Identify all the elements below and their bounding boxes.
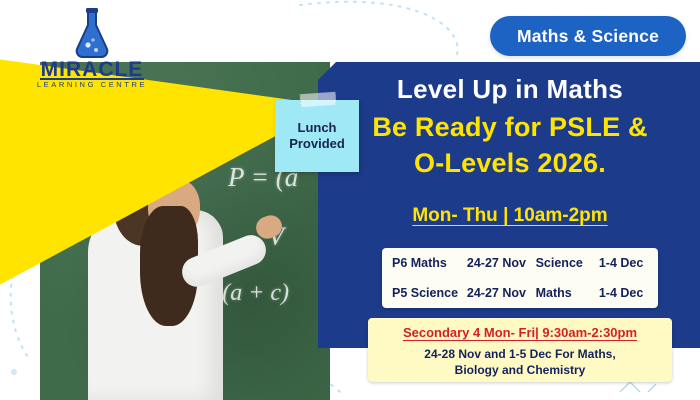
session-time: Mon- Thu | 10am-2pm [330,205,690,227]
main-heading-line1: Be Ready for PSLE & [372,112,647,142]
secondary-info-box: Secondary 4 Mon- Fri| 9:30am-2:30pm 24-2… [368,318,672,382]
lunch-note-text: Lunch Provided [289,120,345,153]
main-heading-line2: O-Levels 2026. [330,146,690,182]
cell-subject-left: P5 Science [382,278,465,308]
promo-poster: w = S : t P = (a t = S : n V = (a + c) [0,0,700,400]
brand-logo: MIRACLE LEARNING CENTRE [22,8,162,100]
secondary-detail: 24-28 Nov and 1-5 Dec For Maths, Biology… [368,346,672,378]
schedule-box: P6 Maths 24-27 Nov Science 1-4 Dec P5 Sc… [382,248,658,308]
lunch-sticky-note: Lunch Provided [275,100,359,172]
secondary-detail-line1: 24-28 Nov and 1-5 Dec For Maths, [424,347,615,361]
table-row: P6 Maths 24-27 Nov Science 1-4 Dec [382,248,658,278]
kicker-heading: Level Up in Maths [330,74,690,105]
main-heading: Be Ready for PSLE & O-Levels 2026. [330,110,690,181]
flask-icon [70,8,114,58]
cell-subject-left: P6 Maths [382,248,465,278]
lunch-note-line1: Lunch [298,120,337,135]
cell-dates-left: 24-27 Nov [465,278,534,308]
secondary-heading: Secondary 4 Mon- Fri| 9:30am-2:30pm [368,325,672,340]
secondary-detail-line2: Biology and Chemistry [455,363,586,377]
brand-tagline: LEARNING CENTRE [22,80,162,89]
cell-subject-right: Science [534,248,597,278]
lunch-note-line2: Provided [289,136,345,151]
cell-dates-left: 24-27 Nov [465,248,534,278]
subject-badge-label: Maths & Science [517,26,659,47]
sticky-tape [300,92,337,107]
cell-dates-right: 1-4 Dec [597,278,658,308]
subject-badge: Maths & Science [490,16,686,56]
table-row: P5 Science 24-27 Nov Maths 1-4 Dec [382,278,658,308]
cell-dates-right: 1-4 Dec [597,248,658,278]
schedule-table: P6 Maths 24-27 Nov Science 1-4 Dec P5 Sc… [382,248,658,308]
cell-subject-right: Maths [534,278,597,308]
